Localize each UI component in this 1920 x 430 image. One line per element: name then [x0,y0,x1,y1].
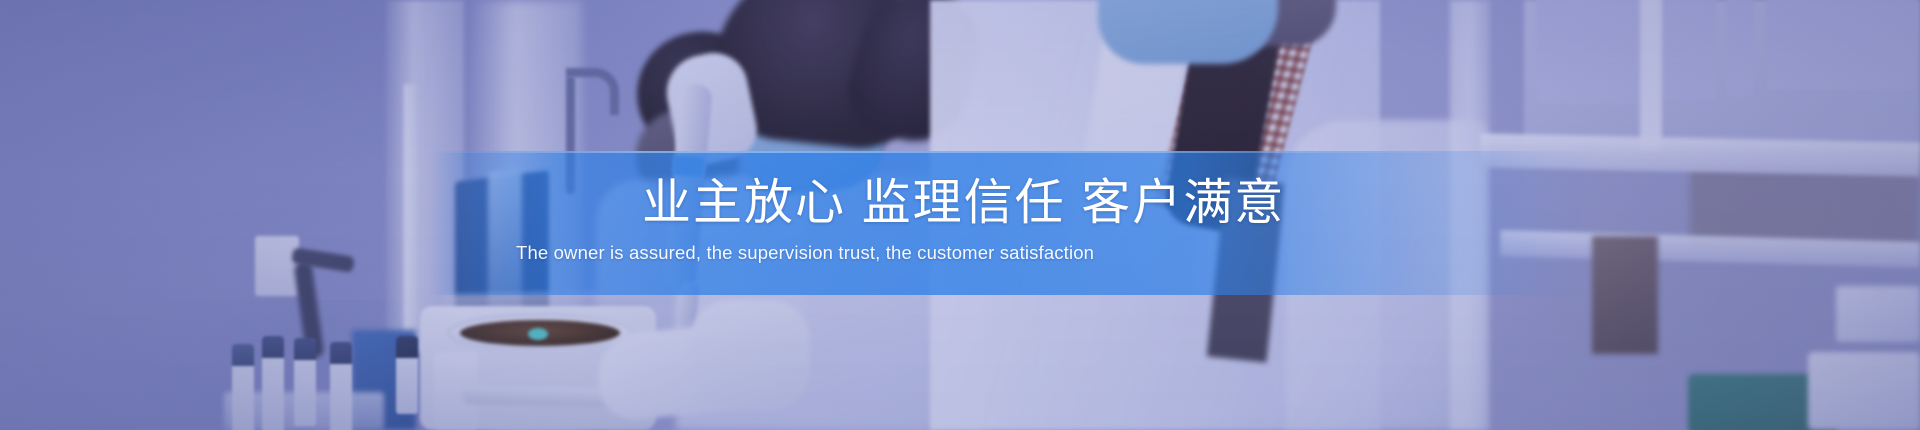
hero-banner: 业主放心 监理信任 客户满意 The owner is assured, the… [0,0,1920,430]
banner-text-block: 业主放心 监理信任 客户满意 The owner is assured, the… [516,146,1616,296]
banner-headline: 业主放心 监理信任 客户满意 [516,178,1616,230]
banner-subtitle: The owner is assured, the supervision tr… [516,242,1616,264]
